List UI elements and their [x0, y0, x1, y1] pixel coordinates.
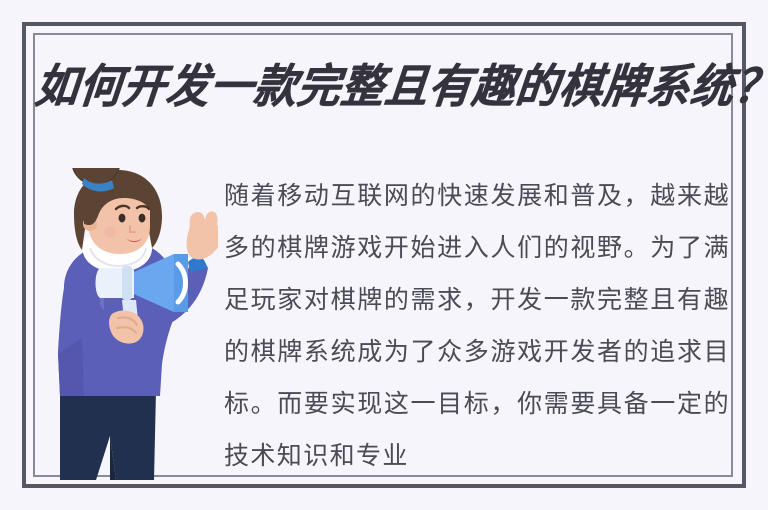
article-paragraph: 随着移动互联网的快速发展和普及，越来越多的棋牌游戏开始进入人们的视野。为了满足玩…: [224, 170, 730, 482]
illustration-pants: [60, 390, 156, 480]
poster-canvas: 如何开发一款完整且有趣的棋牌系统？: [0, 0, 768, 510]
illustration-woman-with-megaphone: [38, 168, 218, 480]
article-body: 随着移动互联网的快速发展和普及，越来越多的棋牌游戏开始进入人们的视野。为了满足玩…: [224, 170, 730, 470]
page-title-text: 如何开发一款完整且有趣的棋牌系统？: [32, 48, 768, 115]
page-title: 如何开发一款完整且有趣的棋牌系统？: [36, 46, 736, 118]
